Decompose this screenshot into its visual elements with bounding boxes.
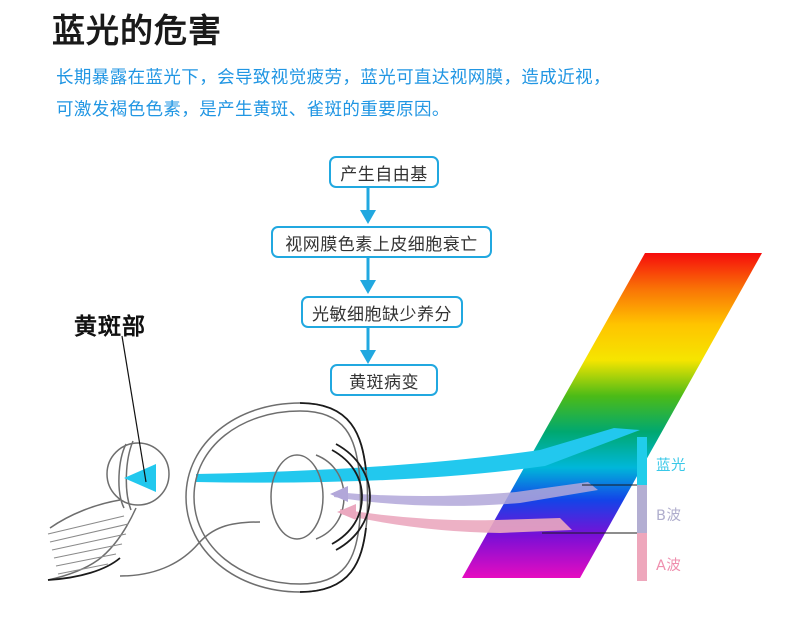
- eye-globe-top-dark: [300, 403, 366, 470]
- flow-step-free-radicals[interactable]: 产生自由基: [329, 156, 439, 188]
- optic-nerve-fibers: [48, 516, 128, 574]
- uva-arrowhead: [337, 504, 356, 520]
- page-title: 蓝光的危害: [52, 13, 222, 49]
- eye-globe-bottom-dark: [300, 528, 366, 592]
- eye-iris: [316, 455, 344, 539]
- legend-label-uvb: B波: [656, 504, 681, 525]
- optic-nerve: [50, 500, 120, 528]
- uva-beam: [340, 509, 572, 533]
- optic-nerve-2: [48, 508, 136, 580]
- flow-arrow-1-icon: [352, 186, 384, 226]
- infographic-page: 蓝光的危害 长期暴露在蓝光下，会导致视觉疲劳，蓝光可直达视网膜，造成近视， 可激…: [0, 0, 790, 628]
- nerve-sheath: [120, 522, 260, 576]
- spectrum-panel: [462, 253, 762, 578]
- flow-step-macular-degeneration[interactable]: 黄斑病变: [330, 364, 438, 396]
- legend-bar-uva: [637, 533, 647, 581]
- eye-globe-inner: [194, 411, 361, 584]
- fovea-arcs-2: [126, 441, 133, 510]
- legend-bar-uvb: [637, 485, 647, 533]
- flow-arrow-2-icon: [352, 256, 384, 296]
- macula-pointer-line: [122, 336, 146, 482]
- eye-lens: [271, 455, 323, 539]
- uvb-beam: [334, 482, 598, 506]
- blue-light-beam: [196, 428, 640, 483]
- flow-step-photoreceptor-malnutrition[interactable]: 光敏细胞缺少养分: [301, 296, 463, 328]
- cornea-outline: [336, 444, 370, 550]
- fovea-arcs: [119, 444, 126, 508]
- macula-circle: [107, 443, 169, 505]
- optic-nerve-dark: [48, 558, 120, 580]
- blue-light-arrowhead: [124, 464, 156, 492]
- eye-globe-outer: [186, 403, 368, 592]
- subtitle-line-1: 长期暴露在蓝光下，会导致视觉疲劳，蓝光可直达视网膜，造成近视，: [56, 64, 611, 89]
- legend-label-uva: A波: [656, 554, 681, 575]
- flow-step-rpe-cell-death[interactable]: 视网膜色素上皮细胞衰亡: [271, 226, 492, 258]
- subtitle-line-2: 可激发褐色色素，是产生黄斑、雀斑的重要原因。: [56, 96, 450, 121]
- macula-label: 黄斑部: [74, 307, 146, 341]
- uvb-arrowhead: [330, 486, 348, 502]
- flow-arrow-3-icon: [352, 326, 384, 366]
- legend-label-blue-light: 蓝光: [656, 454, 686, 475]
- cornea-outline-inner: [332, 450, 362, 544]
- legend-bar-blue-light: [637, 437, 647, 485]
